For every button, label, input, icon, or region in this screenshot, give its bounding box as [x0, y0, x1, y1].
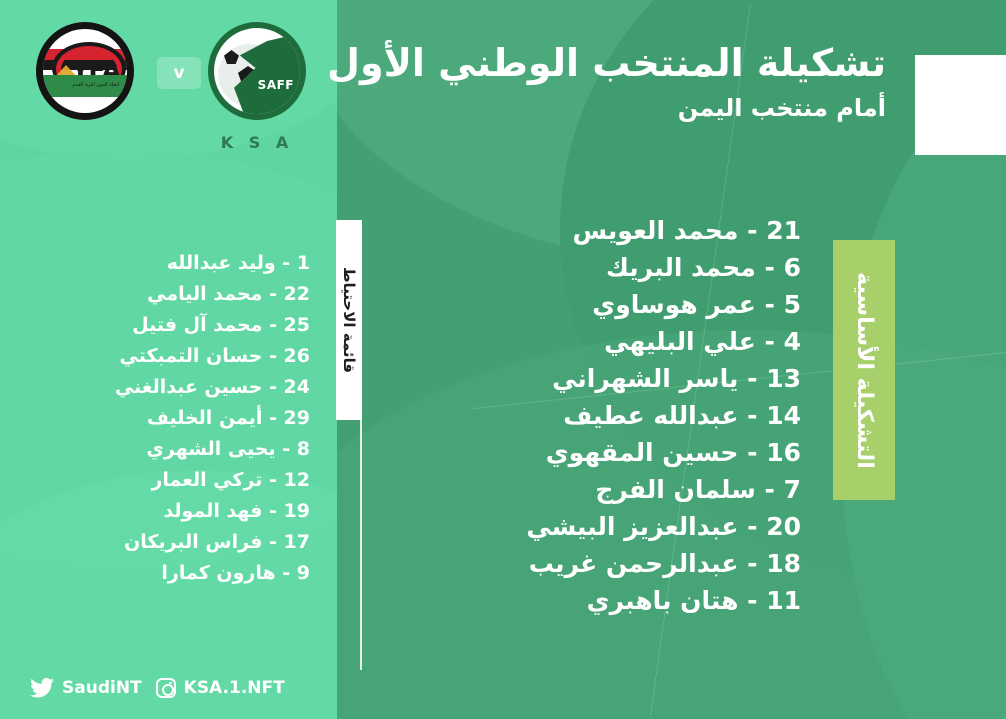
- list-item: 12 - تركي العمار: [0, 465, 310, 496]
- page-subtitle: أمام منتخب اليمن: [286, 94, 886, 122]
- twitter-account[interactable]: SaudiNT: [30, 678, 142, 698]
- ksa-label: K S A: [208, 133, 306, 152]
- list-item: 13 - ياسر الشهراني: [341, 360, 801, 397]
- yemen-crest: YFA اتحاد اليمن لكرة القدم: [36, 22, 134, 120]
- social-footer: SaudiNT KSA.1.NFT: [0, 657, 337, 719]
- substitutes-list: 1 - وليد عبدالله 22 - محمد اليامي 25 - م…: [0, 248, 310, 589]
- list-item: 11 - هتان باهبري: [341, 582, 801, 619]
- twitter-icon: [30, 678, 54, 698]
- list-item: 6 - محمد البريك: [341, 249, 801, 286]
- list-item: 14 - عبدالله عطيف: [341, 397, 801, 434]
- list-item: 1 - وليد عبدالله: [0, 248, 310, 279]
- versus-badge: v: [157, 57, 201, 89]
- list-item: 21 - محمد العويس: [341, 212, 801, 249]
- yfa-logo-icon: YFA اتحاد اليمن لكرة القدم: [36, 22, 134, 120]
- list-item: 18 - عبدالرحمن غريب: [341, 545, 801, 582]
- list-item: 4 - علي البليهي: [341, 323, 801, 360]
- list-item: 8 - يحيى الشهري: [0, 434, 310, 465]
- instagram-handle: KSA.1.NFT: [184, 678, 285, 698]
- graphic-canvas: YFA اتحاد اليمن لكرة القدم v SAFF: [0, 0, 1006, 719]
- starting-lineup-list: 21 - محمد العويس 6 - محمد البريك 5 - عمر…: [341, 212, 801, 619]
- decorative-white-rect: [915, 55, 1006, 155]
- list-item: 7 - سلمان الفرج: [341, 471, 801, 508]
- starting-lineup-badge: التشكيلة الأساسية: [833, 240, 895, 500]
- list-item: 9 - هارون كمارا: [0, 558, 310, 589]
- title-block: تشكيلة المنتخب الوطني الأول أمام منتخب ا…: [286, 40, 886, 122]
- list-item: 26 - حسان التمبكتي: [0, 341, 310, 372]
- starting-lineup-badge-label: التشكيلة الأساسية: [852, 272, 877, 469]
- twitter-handle: SaudiNT: [62, 678, 142, 698]
- list-item: 20 - عبدالعزيز البيشي: [341, 508, 801, 545]
- list-item: 17 - فراس البريكان: [0, 527, 310, 558]
- list-item: 25 - محمد آل فتيل: [0, 310, 310, 341]
- instagram-icon: [156, 678, 176, 698]
- yfa-caption: اتحاد اليمن لكرة القدم: [73, 82, 119, 88]
- list-item: 16 - حسين المقهوي: [341, 434, 801, 471]
- list-item: 22 - محمد اليامي: [0, 279, 310, 310]
- yfa-inner-disc: YFA اتحاد اليمن لكرة القدم: [43, 29, 127, 113]
- list-item: 5 - عمر هوساوي: [341, 286, 801, 323]
- instagram-account[interactable]: KSA.1.NFT: [156, 678, 285, 698]
- list-item: 19 - فهد المولد: [0, 496, 310, 527]
- list-item: 24 - حسين عبدالغني: [0, 372, 310, 403]
- list-item: 29 - أيمن الخليف: [0, 403, 310, 434]
- page-title: تشكيلة المنتخب الوطني الأول: [286, 40, 886, 88]
